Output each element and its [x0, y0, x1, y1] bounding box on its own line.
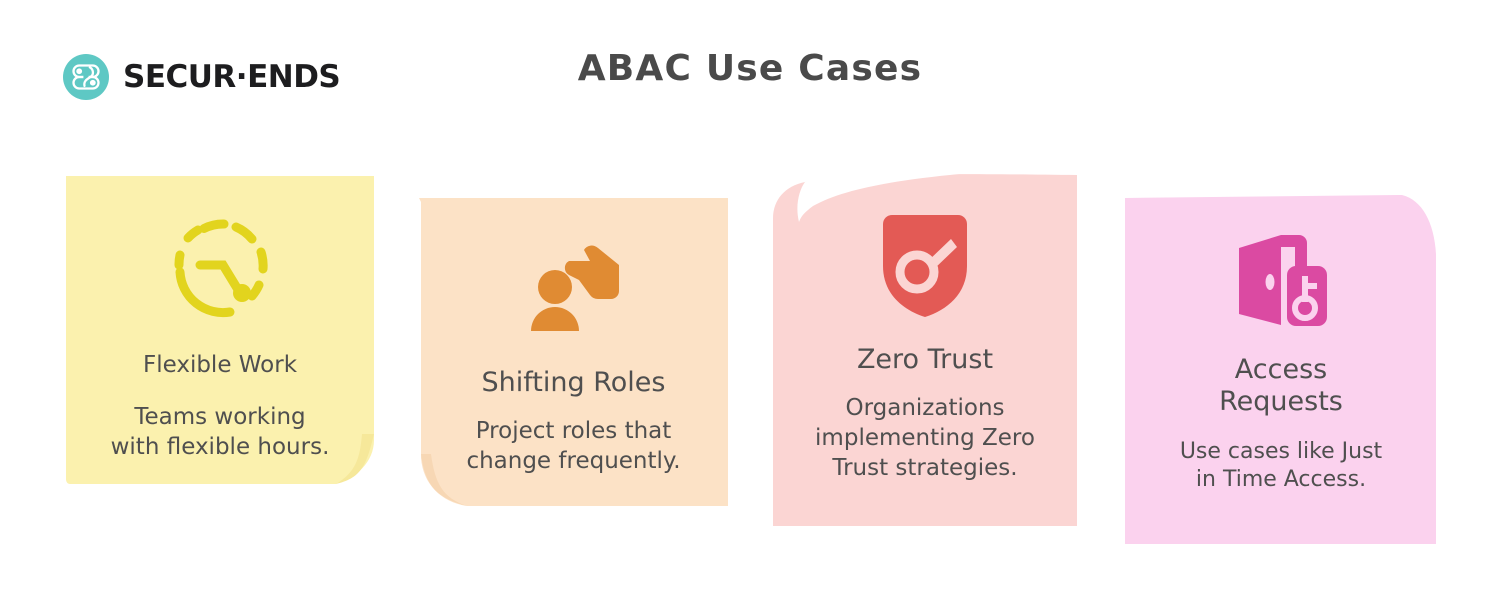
- card-heading: Access Requests: [1219, 354, 1343, 418]
- use-case-card-access-requests[interactable]: Access Requests Use cases like Just in T…: [1122, 192, 1440, 548]
- card-body: Use cases like Just in Time Access.: [1180, 438, 1382, 495]
- use-case-card-shifting-roles[interactable]: Shifting Roles Project roles that change…: [417, 192, 730, 512]
- card-heading: Shifting Roles: [482, 367, 666, 399]
- shield-key-icon: [869, 210, 981, 322]
- card-body: Teams working with flexible hours.: [111, 403, 330, 463]
- dashed-clock-icon: [168, 216, 272, 320]
- card-content: Flexible Work Teams working with flexibl…: [64, 172, 376, 490]
- card-content: Zero Trust Organizations implementing Ze…: [769, 172, 1081, 530]
- user-role-change-icon: [522, 235, 626, 339]
- page-header: SECUR·ENDS ABAC Use Cases: [0, 0, 1500, 150]
- card-content: Access Requests Use cases like Just in T…: [1122, 192, 1440, 548]
- card-content: Shifting Roles Project roles that change…: [417, 192, 730, 512]
- card-heading: Zero Trust: [857, 344, 993, 376]
- use-case-card-zero-trust[interactable]: Zero Trust Organizations implementing Ze…: [769, 172, 1081, 530]
- card-heading: Flexible Work: [143, 352, 297, 379]
- page-title: ABAC Use Cases: [0, 48, 1500, 89]
- open-door-keycard-icon: [1229, 228, 1333, 332]
- use-case-card-flexible-work[interactable]: Flexible Work Teams working with flexibl…: [64, 172, 376, 490]
- card-body: Organizations implementing Zero Trust st…: [815, 394, 1035, 484]
- card-body: Project roles that change frequently.: [466, 417, 680, 477]
